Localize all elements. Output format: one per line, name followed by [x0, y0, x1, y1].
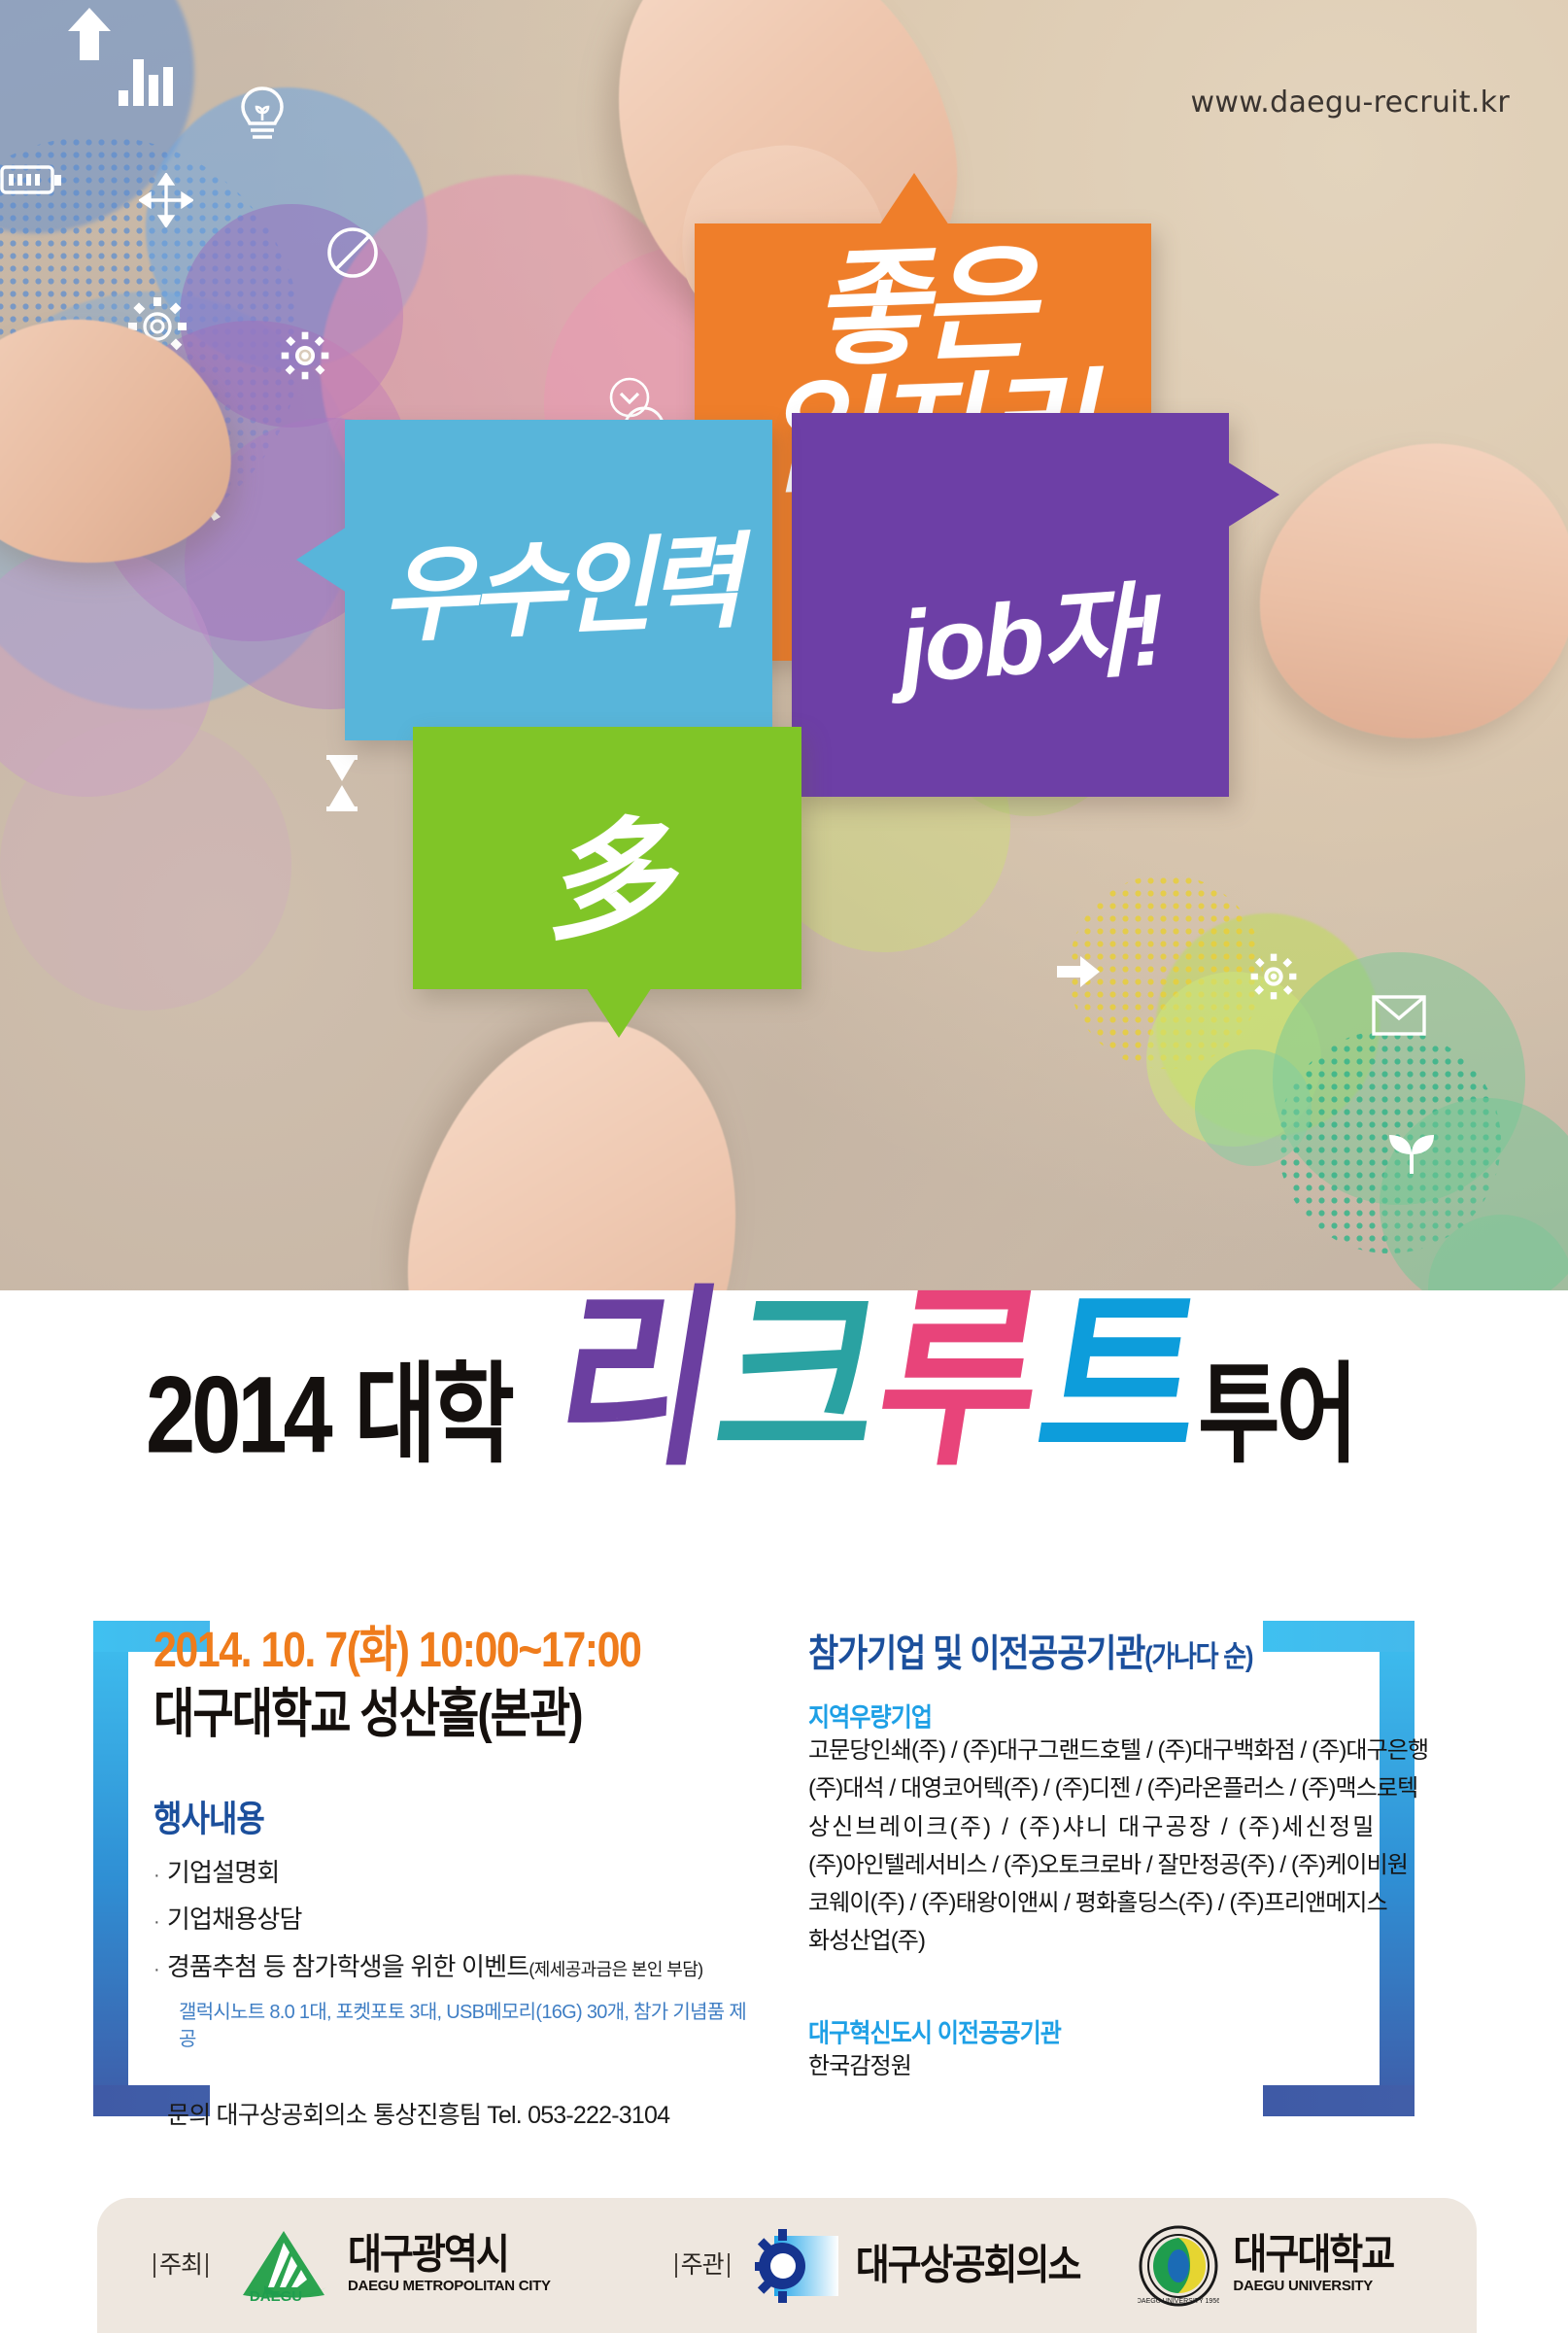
program-item-text: 기업채용상담	[167, 1904, 302, 1934]
deco-bubble	[1195, 1049, 1312, 1166]
bubble-green-tail	[586, 987, 652, 1038]
seal-text: DAEGU UNIVERSITY 1956	[1138, 2298, 1219, 2305]
company-line: 코웨이(주) / (주)태왕이앤씨 / 평화홀딩스(주) / (주)프리앤메지스	[808, 1886, 1352, 1920]
page-title: 2014 대학 리 크 루 트 투어	[146, 1304, 1354, 1477]
gear-icon	[280, 330, 330, 381]
university-name-en: DAEGU UNIVERSITY	[1233, 2278, 1393, 2294]
daegu-university-seal-icon: DAEGU UNIVERSITY 1956	[1138, 2225, 1219, 2307]
envelope-icon	[1372, 995, 1426, 1036]
host-name-block: 대구광역시 DAEGU METROPOLITAN CITY	[348, 2237, 551, 2294]
plant-icon	[1383, 1127, 1440, 1178]
bracket-right-bottom-arm	[1263, 2085, 1415, 2116]
chevron-down-icon	[609, 377, 650, 418]
public-institutions-label: 대구혁신도시 이전공공기관	[808, 2011, 1352, 2049]
daegu-mark-text: DAEGU	[250, 2288, 302, 2305]
participants-heading-main: 참가기업 및 이전공공기관	[808, 1632, 1144, 1675]
event-venue: 대구대학교 성산홀(본관)	[153, 1682, 756, 1746]
battery-icon	[0, 163, 64, 196]
bubble-blue-label: 우수인력	[342, 496, 775, 664]
logo-char-keu: 크	[699, 1284, 891, 1477]
title-prefix: 대학	[355, 1360, 511, 1477]
bracket-left	[93, 1621, 128, 2116]
daegu-city-logo-icon: DAEGU	[235, 2227, 332, 2305]
company-line: 고문당인쇄(주) / (주)대구그랜드호텔 / (주)대구백화점 / (주)대구…	[808, 1733, 1352, 1767]
website-url[interactable]: www.daegu-recruit.kr	[1191, 86, 1510, 120]
prize-note: 갤럭시노트 8.0 1대, 포켓포토 3대, USB메모리(16G) 30개, …	[179, 1999, 756, 2053]
host-group: 주최 DAEGU 대구광역시 DAEGU METROPOLITAN CITY	[153, 2227, 551, 2305]
university-name-block: 대구대학교 DAEGU UNIVERSITY	[1233, 2237, 1393, 2294]
host-name-kr: 대구광역시	[348, 2235, 551, 2277]
company-line: (주)대석 / 대영코어텍(주) / (주)디젠 / (주)라온플러스 / (주…	[808, 1771, 1352, 1805]
play-arrow-icon	[1055, 952, 1102, 991]
list-item: ·기업설명회	[153, 1857, 756, 1890]
move-arrows-icon	[139, 173, 193, 227]
participants-column: 참가기업 및 이전공공기관(가나다 순) 지역우량기업 고문당인쇄(주) / (…	[808, 1623, 1352, 2083]
program-item-note: (제세공과금은 본인 부담)	[528, 1960, 702, 1979]
host-label: 주최	[153, 2253, 208, 2278]
section-spacer	[808, 1959, 1352, 2011]
bullet-dot-icon: ·	[153, 1959, 159, 1980]
bubble-green: 多	[413, 727, 801, 989]
bubble-purple: job자!	[792, 413, 1229, 797]
bubble-purple-tail	[1227, 462, 1279, 528]
logo-char-teu: 트	[1021, 1284, 1212, 1477]
title-year: 2014	[146, 1360, 329, 1477]
hand-photo-bottom	[373, 987, 783, 1290]
logo-char-ru: 루	[860, 1284, 1051, 1477]
title-band: 2014 대학 리 크 루 트 투어	[0, 1290, 1568, 1582]
bubble-blue-tail	[296, 527, 347, 593]
program-list: ·기업설명회 ·기업채용상담 ·경품추첨 등 참가학생을 위한 이벤트(제세공과…	[153, 1857, 756, 1984]
event-datetime: 2014. 10. 7(화) 10:00~17:00	[153, 1623, 756, 1679]
university-name-kr: 대구대학교	[1233, 2235, 1393, 2277]
bullet-dot-icon: ·	[153, 1865, 159, 1886]
bubble-orange-tail	[879, 173, 949, 225]
local-companies-label: 지역우량기업	[808, 1696, 1352, 1733]
company-line: (주)아인텔레서비스 / (주)오토크로바 / 잘만정공(주) / (주)케이비…	[808, 1848, 1352, 1882]
bar-chart-icon	[117, 53, 175, 108]
bubble-green-label: 多	[408, 768, 805, 974]
contact-info: 문의 대구상공회의소 통상진흥팀 Tel. 053-222-3104	[167, 2096, 756, 2131]
deco-bubble	[0, 719, 291, 1011]
info-section: 2014. 10. 7(화) 10:00~17:00 대구대학교 성산홀(본관)…	[0, 1582, 1568, 2184]
participants-heading-suffix: (가나다 순)	[1144, 1639, 1252, 1673]
logo-char-ri: 리	[538, 1284, 730, 1477]
organizer-label: 주관	[675, 2253, 730, 2278]
bullet-dot-icon: ·	[153, 1911, 159, 1933]
organizer-name-kr: 대구상공회의소	[856, 2245, 1080, 2286]
host-name-en: DAEGU METROPOLITAN CITY	[348, 2278, 551, 2294]
dcci-gear-logo-icon	[753, 2226, 842, 2306]
company-line: 화성산업(주)	[808, 1924, 1352, 1958]
program-item-text: 기업설명회	[167, 1858, 280, 1887]
hourglass-icon	[321, 753, 363, 813]
organizer-group: 주관 대구상공회의소	[675, 2226, 1080, 2306]
university-group: DAEGU UNIVERSITY 1956 대구대학교 DAEGU UNIVER…	[1138, 2225, 1393, 2307]
lightbulb-icon	[236, 86, 289, 146]
institution-line: 한국감정원	[808, 2049, 1352, 2083]
list-item: ·기업채용상담	[153, 1904, 756, 1937]
sponsors-footer: 주최 DAEGU 대구광역시 DAEGU METROPOLITAN CITY 주…	[97, 2198, 1477, 2333]
list-item: ·경품추첨 등 참가학생을 위한 이벤트(제세공과금은 본인 부담)	[153, 1951, 756, 1984]
bubble-blue: 우수인력	[345, 420, 772, 740]
no-entry-icon	[325, 225, 380, 280]
title-suffix: 투어	[1198, 1360, 1354, 1477]
event-details-column: 2014. 10. 7(화) 10:00~17:00 대구대학교 성산홀(본관)…	[153, 1623, 756, 2131]
up-arrow-icon	[66, 6, 113, 62]
program-heading: 행사내용	[153, 1791, 756, 1842]
gear-icon	[1249, 952, 1298, 1001]
hand-photo-right	[1231, 417, 1568, 769]
participants-heading: 참가기업 및 이전공공기관(가나다 순)	[808, 1623, 1352, 1677]
bubble-purple-label: job자!	[787, 541, 1233, 718]
hero-banner: 좋은 일자리 job자! 우수인력 多 www.daegu-recruit.kr	[0, 0, 1568, 1290]
program-item-text: 경품추첨 등 참가학생을 위한 이벤트	[167, 1952, 529, 1981]
company-line: 상신브레이크(주) / (주)샤니 대구공장 / (주)세신정밀	[808, 1810, 1352, 1844]
